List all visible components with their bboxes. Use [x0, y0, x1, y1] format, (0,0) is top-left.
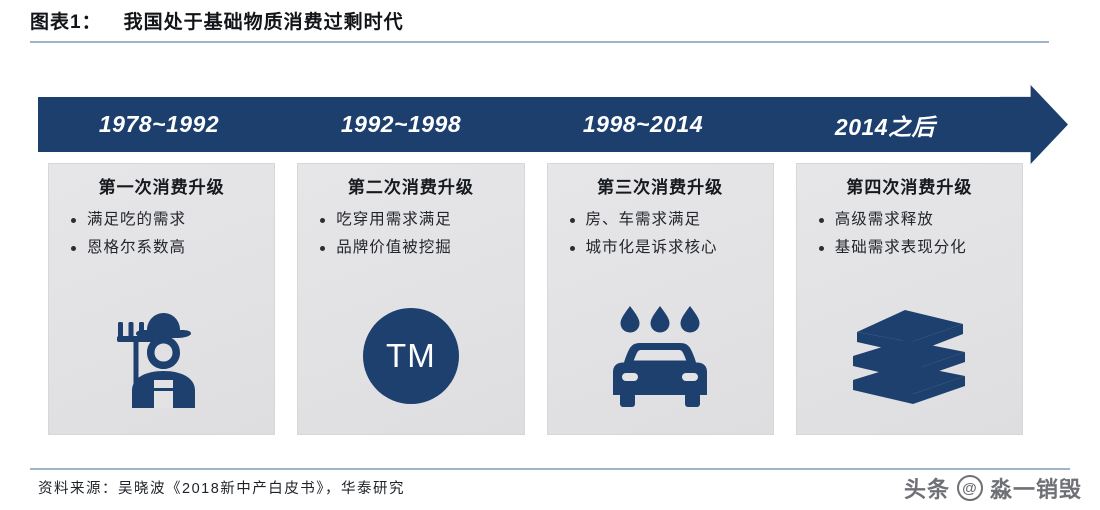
- list-item: 高级需求释放: [819, 206, 1012, 234]
- stage-card-2-title: 第二次消费升级: [306, 176, 515, 200]
- stage-card-3-bullets: 房、车需求满足 城市化是诉求核心: [556, 206, 765, 262]
- watermark-prefix: 头条: [904, 472, 950, 504]
- watermark-username: 淼一销毁: [990, 472, 1082, 504]
- stage-card-4-title: 第四次消费升级: [805, 176, 1014, 200]
- watermark: 头条 @ 淼一销毁: [904, 472, 1082, 504]
- farmer-icon: [103, 300, 221, 412]
- timeline-period-4: 2014之后: [764, 97, 1006, 152]
- stage-card-2: 第二次消费升级 吃穿用需求满足 品牌价值被挖掘 TM: [297, 163, 524, 435]
- stage-card-4-icon-wrap: [797, 300, 1022, 412]
- stage-card-1-title: 第一次消费升级: [57, 176, 266, 200]
- stage-card-3-icon-wrap: [548, 300, 773, 412]
- list-item: 品牌价值被挖掘: [320, 234, 513, 262]
- timeline-period-2: 1992~1998: [280, 97, 522, 152]
- stage-card-4: 第四次消费升级 高级需求释放 基础需求表现分化: [796, 163, 1023, 435]
- at-icon: @: [957, 475, 983, 501]
- page-title: 图表1：我国处于基础物质消费过剩时代: [30, 8, 1070, 38]
- timeline-period-labels: 1978~1992 1992~1998 1998~2014 2014之后: [38, 97, 1006, 152]
- stage-card-2-bullets: 吃穿用需求满足 品牌价值被挖掘: [306, 206, 515, 262]
- header-divider: [30, 41, 1049, 43]
- source-note: 资料来源：吴晓波《2018新中产白皮书》，华泰研究: [38, 477, 405, 498]
- footer-divider: [30, 468, 1070, 470]
- stage-card-3-title: 第三次消费升级: [556, 176, 765, 200]
- stage-card-3: 第三次消费升级 房、车需求满足 城市化是诉求核心: [547, 163, 774, 435]
- trademark-icon-label: TM: [386, 337, 436, 375]
- list-item: 恩格尔系数高: [71, 234, 264, 262]
- trademark-icon: TM: [363, 308, 459, 404]
- stage-card-1: 第一次消费升级 满足吃的需求 恩格尔系数高: [48, 163, 275, 435]
- stage-card-list: 第一次消费升级 满足吃的需求 恩格尔系数高: [48, 163, 1023, 435]
- timeline-arrow-head-icon: [1000, 85, 1068, 164]
- timeline-period-3: 1998~2014: [522, 97, 764, 152]
- figure-header: 图表1：我国处于基础物质消费过剩时代: [30, 8, 1070, 44]
- car-wash-icon: [600, 300, 720, 412]
- list-item: 房、车需求满足: [570, 206, 763, 234]
- list-item: 基础需求表现分化: [819, 234, 1012, 262]
- timeline-arrow: 1978~1992 1992~1998 1998~2014 2014之后: [38, 97, 1068, 164]
- list-item: 吃穿用需求满足: [320, 206, 513, 234]
- stage-card-1-bullets: 满足吃的需求 恩格尔系数高: [57, 206, 266, 262]
- figure-title-text: 我国处于基础物质消费过剩时代: [124, 12, 404, 33]
- figure-number: 图表1：: [30, 12, 102, 33]
- figure-container: 图表1：我国处于基础物质消费过剩时代 1978~1992 1992~1998 1…: [0, 0, 1100, 510]
- stage-card-4-bullets: 高级需求释放 基础需求表现分化: [805, 206, 1014, 262]
- stage-card-2-icon-wrap: TM: [298, 300, 523, 412]
- list-item: 满足吃的需求: [71, 206, 264, 234]
- books-icon: [847, 300, 971, 412]
- stage-card-1-icon-wrap: [49, 300, 274, 412]
- list-item: 城市化是诉求核心: [570, 234, 763, 262]
- timeline-period-1: 1978~1992: [38, 97, 280, 152]
